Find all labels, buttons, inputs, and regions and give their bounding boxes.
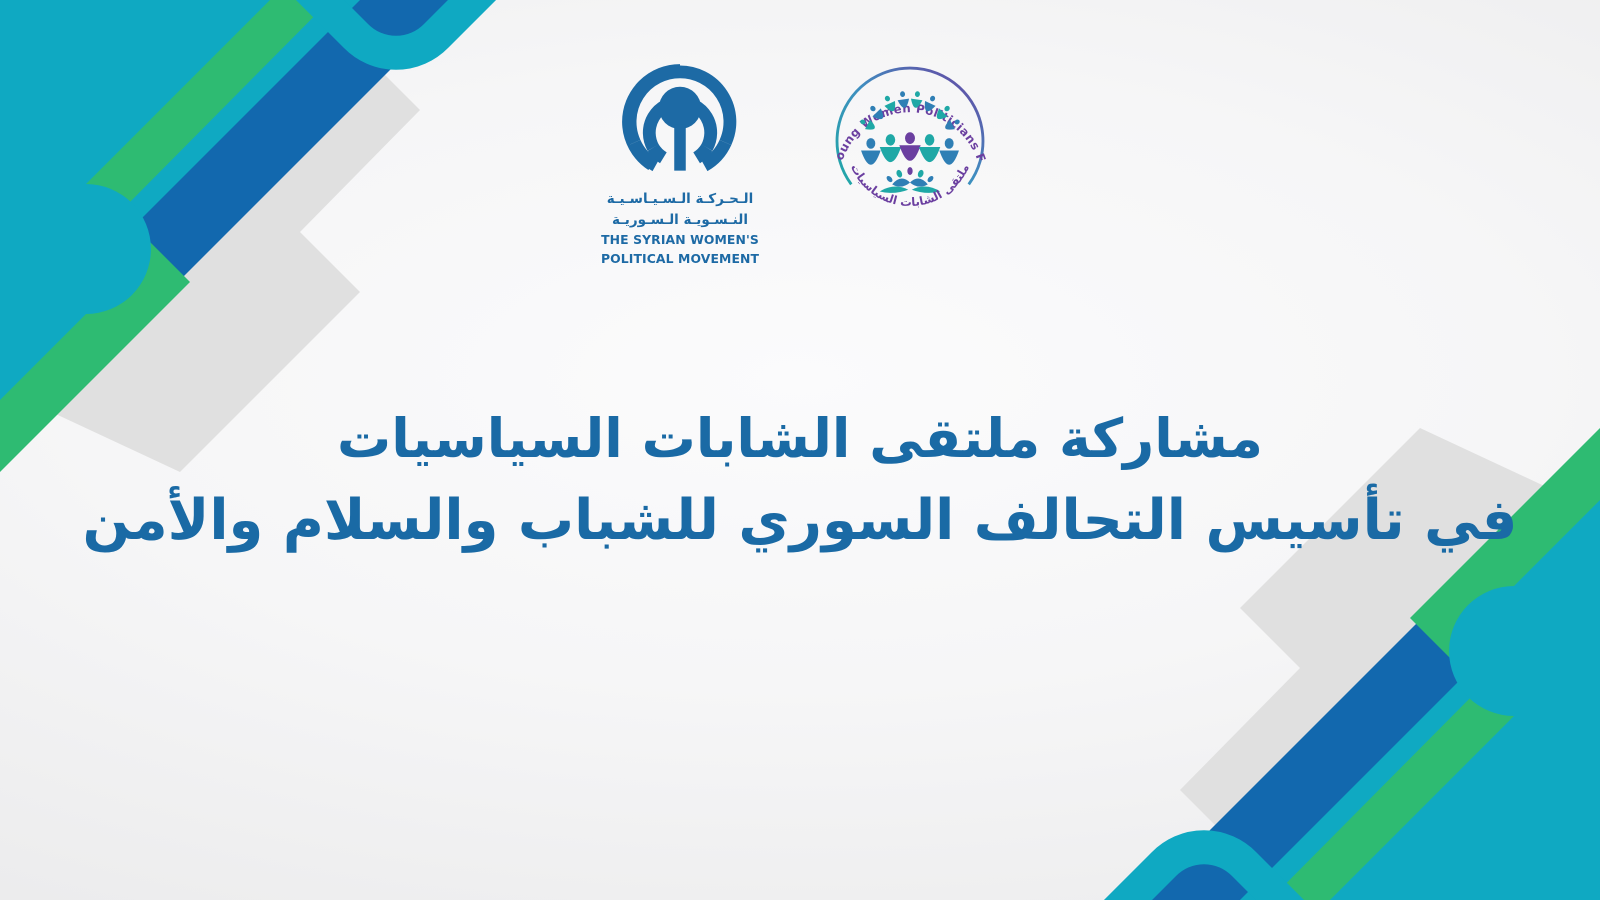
teal-hook-stroke-tl [200,0,560,53]
teal-hook-stroke-br [1040,847,1400,900]
logo-ywpf: The Young Women Politicians Forum [821,58,999,236]
swpm-emblem-icon [616,58,744,186]
logo-swpm: الـحـركـة الـسـيـاسـيـة النـسـويـة الـسـ… [601,58,759,265]
headline-block: مشاركة ملتقى الشابات السياسيات في تأسيس … [0,398,1600,562]
logo-row: الـحـركـة الـسـيـاسـيـة النـسـويـة الـسـ… [0,58,1600,265]
ywpf-emblem-icon: The Young Women Politicians Forum [821,58,999,236]
banner-canvas: الـحـركـة الـسـيـاسـيـة النـسـويـة الـسـ… [0,0,1600,900]
swpm-english-name-line1: THE SYRIAN WOMEN'S [601,233,759,247]
headline-line-1: مشاركة ملتقى الشابات السياسيات [0,398,1600,480]
swpm-arabic-name-line2: النـسـويـة الـسـوريـة [612,213,748,228]
swpm-arabic-name-line1: الـحـركـة الـسـيـاسـيـة [607,192,753,207]
headline-line-2: في تأسيس التحالف السوري للشباب والسلام و… [0,480,1600,562]
swpm-english-name-line2: POLITICAL MOVEMENT [601,252,759,266]
